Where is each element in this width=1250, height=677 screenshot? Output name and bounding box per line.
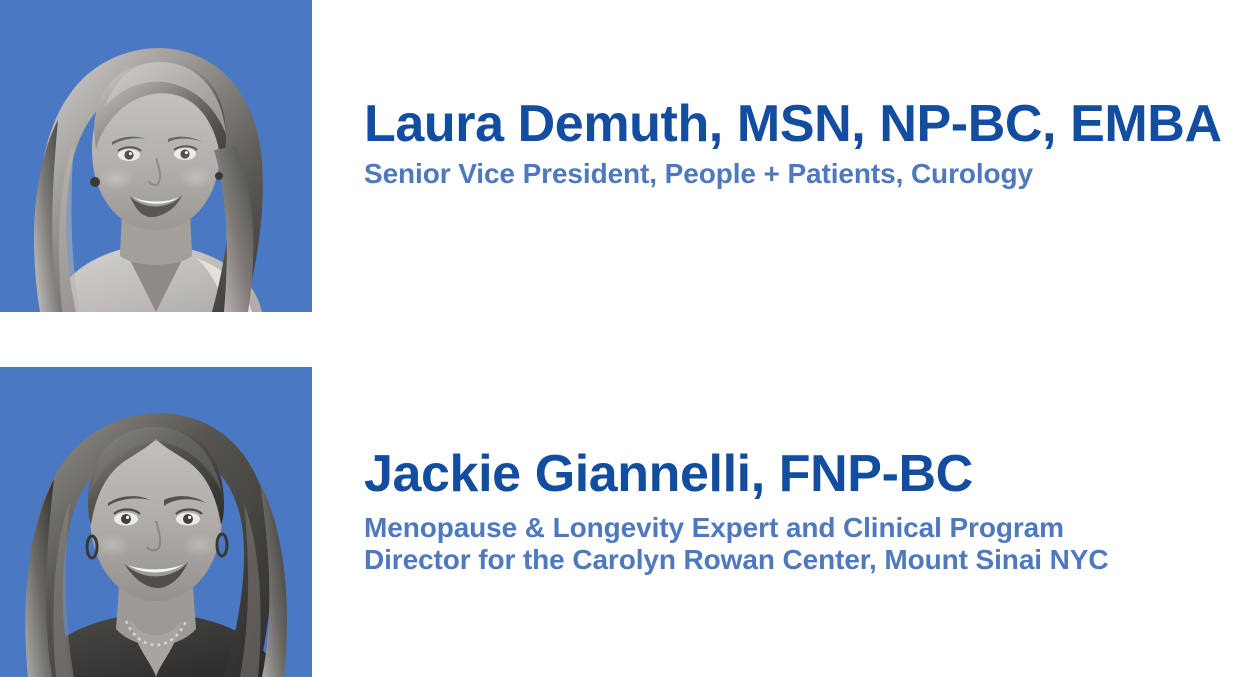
speaker-title-line: Menopause & Longevity Expert and Clinica…	[364, 512, 1108, 544]
speaker-text-block: Laura Demuth, MSN, NP-BC, EMBA Senior Vi…	[364, 96, 1222, 190]
avatar	[0, 0, 312, 312]
speaker-text-block: Jackie Giannelli, FNP-BC Menopause & Lon…	[364, 446, 1108, 576]
speaker-name: Laura Demuth, MSN, NP-BC, EMBA	[364, 96, 1222, 152]
speaker-title: Senior Vice President, People + Patients…	[364, 158, 1222, 190]
avatar	[0, 367, 312, 677]
portrait-photo-laura-demuth	[0, 0, 312, 312]
speaker-title-line: Senior Vice President, People + Patients…	[364, 158, 1222, 190]
speaker-row: Jackie Giannelli, FNP-BC Menopause & Lon…	[0, 367, 1250, 677]
portrait-photo-jackie-giannelli	[0, 367, 312, 677]
speaker-panel-slide: Laura Demuth, MSN, NP-BC, EMBA Senior Vi…	[0, 0, 1250, 677]
speaker-row: Laura Demuth, MSN, NP-BC, EMBA Senior Vi…	[0, 0, 1250, 312]
speaker-title-line: Director for the Carolyn Rowan Center, M…	[364, 544, 1108, 576]
speaker-name: Jackie Giannelli, FNP-BC	[364, 446, 1108, 502]
speaker-title: Menopause & Longevity Expert and Clinica…	[364, 512, 1108, 576]
